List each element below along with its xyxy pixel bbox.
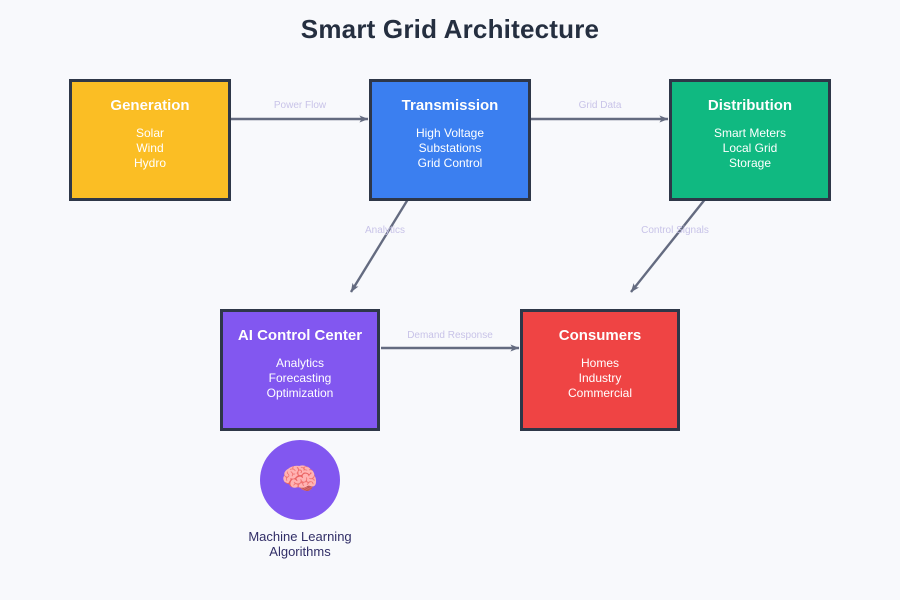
brain-icon: 🧠 <box>281 465 318 495</box>
machine-learning-circle: 🧠 <box>260 440 340 520</box>
node-item: Storage <box>714 156 786 171</box>
page-title: Smart Grid Architecture <box>0 14 900 45</box>
machine-learning-badge[interactable]: 🧠 Machine Learning Algorithms <box>240 440 360 559</box>
node-transmission[interactable]: Transmission High Voltage Substations Gr… <box>369 79 531 201</box>
node-ai-control-center[interactable]: AI Control Center Analytics Forecasting … <box>220 309 380 431</box>
diagram-canvas: Smart Grid Architecture Power Flow Grid … <box>0 0 900 600</box>
edge-label-grid-data: Grid Data <box>540 100 660 111</box>
node-consumers[interactable]: Consumers Homes Industry Commercial <box>520 309 680 431</box>
edge-label-control-signals: Control Signals <box>615 225 735 236</box>
node-item: Solar <box>134 126 166 141</box>
node-item: Industry <box>568 371 632 386</box>
node-ai-control-center-title: AI Control Center <box>238 327 362 346</box>
node-transmission-title: Transmission <box>402 97 499 116</box>
node-distribution[interactable]: Distribution Smart Meters Local Grid Sto… <box>669 79 831 201</box>
machine-learning-label: Machine Learning Algorithms <box>248 529 351 559</box>
node-consumers-items: Homes Industry Commercial <box>568 356 632 401</box>
edge-label-demand-response: Demand Response <box>390 330 510 341</box>
node-item: Forecasting <box>267 371 334 386</box>
edge-label-analytics: Analytics <box>325 225 445 236</box>
node-item: Optimization <box>267 386 334 401</box>
node-item: High Voltage <box>416 126 484 141</box>
node-generation-items: Solar Wind Hydro <box>134 126 166 171</box>
node-distribution-items: Smart Meters Local Grid Storage <box>714 126 786 171</box>
node-item: Grid Control <box>416 156 484 171</box>
node-item: Commercial <box>568 386 632 401</box>
node-item: Wind <box>134 141 166 156</box>
node-item: Homes <box>568 356 632 371</box>
node-consumers-title: Consumers <box>559 327 642 346</box>
node-generation[interactable]: Generation Solar Wind Hydro <box>69 79 231 201</box>
node-ai-control-center-items: Analytics Forecasting Optimization <box>267 356 334 401</box>
node-item: Substations <box>416 141 484 156</box>
node-item: Local Grid <box>714 141 786 156</box>
node-item: Smart Meters <box>714 126 786 141</box>
node-distribution-title: Distribution <box>708 97 792 116</box>
node-item: Analytics <box>267 356 334 371</box>
node-generation-title: Generation <box>110 97 189 116</box>
edge-label-power-flow: Power Flow <box>240 100 360 111</box>
node-item: Hydro <box>134 156 166 171</box>
node-transmission-items: High Voltage Substations Grid Control <box>416 126 484 171</box>
